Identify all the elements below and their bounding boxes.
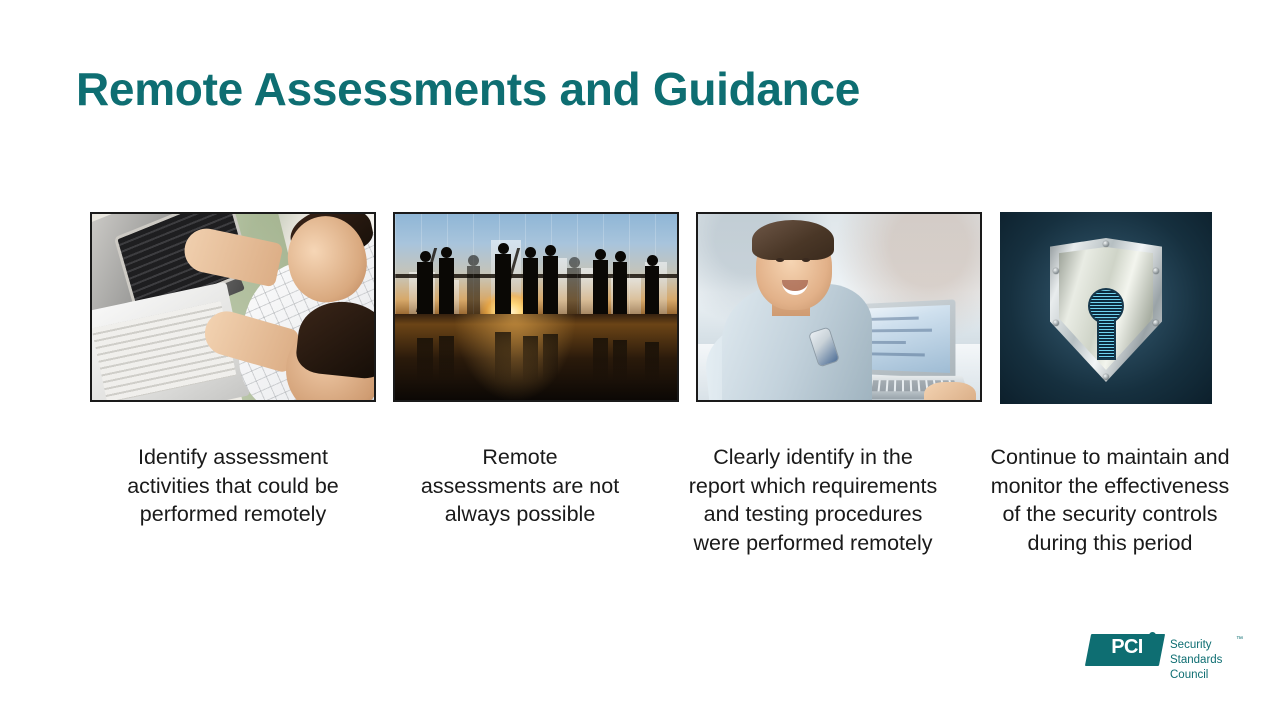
skyline-silhouettes-photo	[395, 214, 677, 400]
image-row	[0, 212, 1280, 408]
shield-binary-keyhole-graphic	[1000, 212, 1212, 404]
panel-caption-2: Remote assessments are not always possib…	[375, 443, 665, 529]
man-with-laptop-photo	[698, 214, 980, 400]
trademark-symbol: ™	[1236, 636, 1243, 643]
page-title: Remote Assessments and Guidance	[76, 64, 860, 115]
panel-caption-4: Continue to maintain and monitor the eff…	[960, 443, 1260, 557]
panel-image-remote-assessments-not-always-possible	[393, 212, 679, 402]
laptops-overhead-photo	[92, 214, 374, 400]
panel-image-security-shield	[1000, 212, 1212, 404]
panel-image-identify-assessment-activities	[90, 212, 376, 402]
pci-security-standards-council-logo: PCI Security Standards Council ™	[1088, 630, 1256, 672]
pci-logo-dot	[1149, 632, 1156, 639]
panel-image-clearly-identify-in-report	[696, 212, 982, 402]
keyhole-icon	[1090, 290, 1122, 358]
panel-caption-3: Clearly identify in the report which req…	[668, 443, 958, 557]
pci-logo-wordmark: Security Standards Council	[1170, 638, 1256, 684]
shield-icon	[1050, 238, 1162, 382]
panel-caption-1: Identify assessment activities that coul…	[88, 443, 378, 529]
pci-logo-mark-text: PCI	[1090, 636, 1164, 659]
